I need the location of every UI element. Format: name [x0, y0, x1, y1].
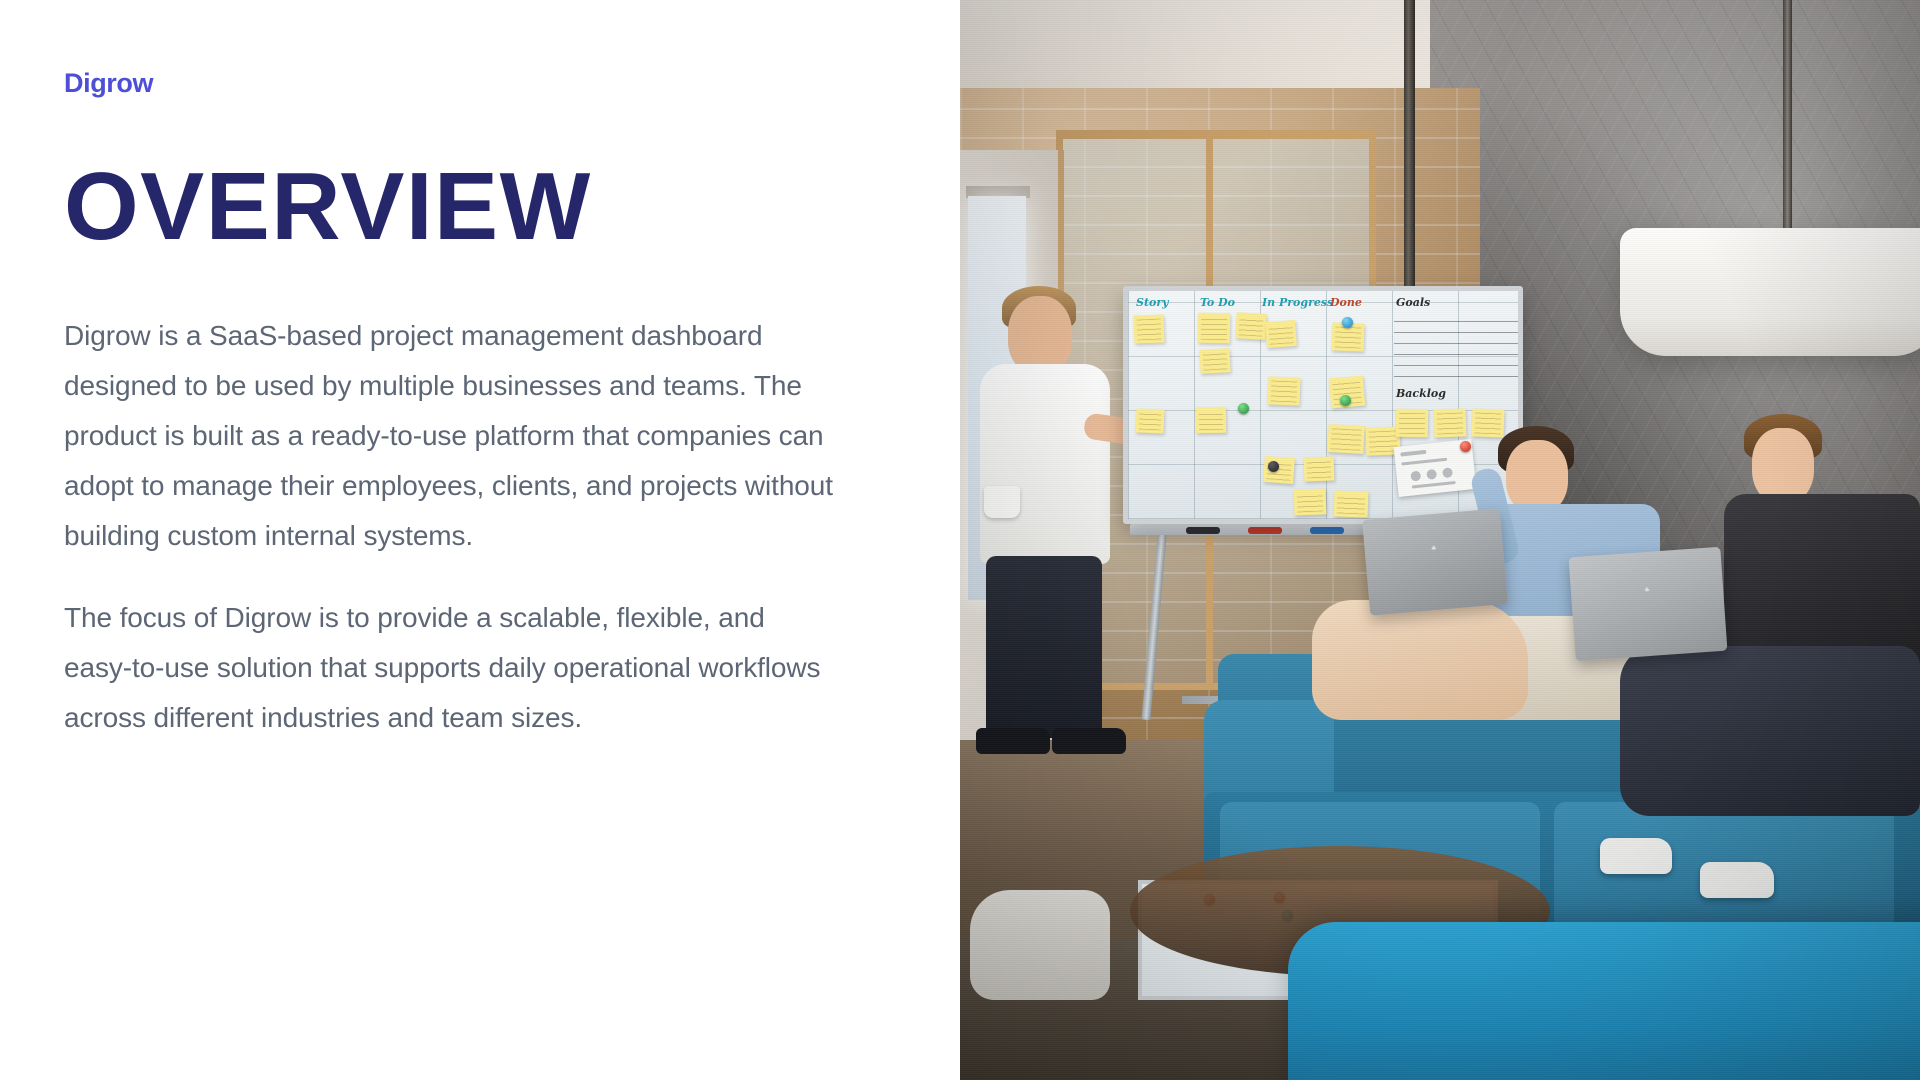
presenter-pants	[986, 556, 1102, 738]
sticky-note	[1265, 320, 1297, 348]
presenter-head	[1008, 296, 1072, 374]
magnet-red	[1460, 441, 1471, 452]
sneaker-left	[1600, 838, 1672, 874]
sneaker-right	[1700, 862, 1774, 898]
sticky-note	[1199, 348, 1230, 374]
apple-logo-icon	[1636, 586, 1660, 613]
magnet-blue	[1342, 317, 1353, 328]
office-photo: Story To Do In Progress Done Goals Backl…	[960, 0, 1920, 1080]
sticky-note	[1304, 456, 1335, 481]
laptop-silver-1	[1362, 508, 1508, 616]
text-panel: Digrow OVERVIEW Digrow is a SaaS-based p…	[0, 0, 960, 1080]
sticky-note	[1268, 376, 1301, 405]
overview-paragraph-2: The focus of Digrow is to provide a scal…	[64, 593, 836, 743]
page-title: OVERVIEW	[64, 159, 890, 255]
board-column-story: Story	[1136, 296, 1169, 309]
sticky-note	[1334, 490, 1369, 517]
board-column-done: Done	[1330, 296, 1362, 309]
sticky-note	[1327, 424, 1364, 454]
lamp-shade	[1620, 228, 1920, 356]
apple-logo-icon	[1423, 544, 1447, 572]
marker-black	[1186, 527, 1220, 534]
presenter-shoe-left	[976, 728, 1050, 754]
board-column-todo: To Do	[1200, 296, 1235, 309]
sticky-note	[1263, 456, 1295, 484]
marker-red	[1248, 527, 1282, 534]
magnet-green	[1340, 395, 1351, 406]
board-column-in-progress: In Progress	[1262, 296, 1333, 309]
board-section-backlog: Backlog	[1396, 387, 1446, 400]
floor-bag	[970, 890, 1110, 1000]
laptop-silver-2	[1569, 547, 1728, 661]
lamp-rod	[1783, 0, 1792, 240]
stand-leg-left	[1141, 524, 1167, 720]
magnet-green	[1238, 403, 1249, 414]
marker-blue	[1310, 527, 1344, 534]
sticky-note	[1434, 408, 1467, 437]
coffee-cup	[984, 486, 1020, 518]
foreground-couch	[1288, 922, 1920, 1080]
presenter-shirt	[980, 364, 1110, 564]
sticky-note	[1294, 488, 1327, 515]
body-copy: Digrow is a SaaS-based project managemen…	[64, 311, 836, 743]
seated-person-2-head	[1752, 428, 1814, 504]
sticky-note	[1196, 407, 1226, 434]
sticky-note	[1396, 409, 1428, 438]
seated-person-2-legs	[1620, 646, 1920, 816]
sticky-note	[1134, 314, 1165, 343]
overview-paragraph-1: Digrow is a SaaS-based project managemen…	[64, 311, 836, 561]
presenter-shoe-right	[1052, 728, 1126, 754]
seated-person-1-head	[1506, 440, 1568, 514]
whiteboard: Story To Do In Progress Done Goals Backl…	[1123, 286, 1523, 524]
board-goals-notes	[1394, 317, 1520, 377]
sticky-note	[1136, 409, 1165, 434]
sticky-note	[1235, 312, 1266, 340]
board-column-goals: Goals	[1396, 296, 1430, 309]
slide-overview: Digrow OVERVIEW Digrow is a SaaS-based p…	[0, 0, 1920, 1080]
magnet-black	[1268, 461, 1279, 472]
sticky-note	[1472, 408, 1505, 437]
seated-person-1-legs	[1312, 600, 1528, 720]
brand-logo: Digrow	[64, 70, 890, 97]
sticky-note	[1198, 313, 1231, 344]
